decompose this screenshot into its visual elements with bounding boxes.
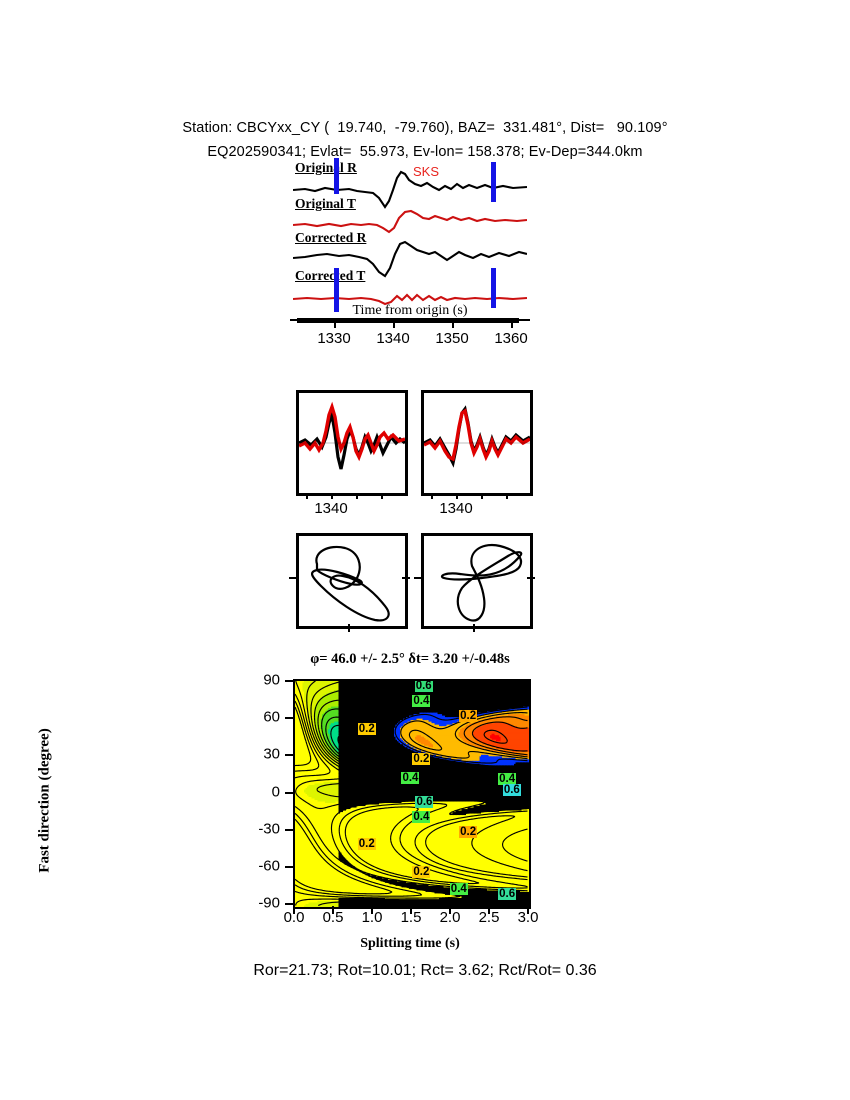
x-tick-label: 1.5	[401, 909, 422, 926]
cmp-tick	[456, 493, 458, 499]
pm-tick	[473, 624, 475, 632]
pm-tick	[527, 577, 535, 579]
particle-motion-corrected	[421, 533, 533, 629]
fast-slow-waveforms-corrected	[424, 393, 530, 493]
splitting-analysis-figure: Station: CBCYxx_CY ( 19.740, -79.760), B…	[0, 0, 850, 1100]
cmp-tick-label: 1340	[314, 500, 347, 517]
time-tick	[452, 320, 454, 328]
cmp-tick	[356, 493, 358, 499]
x-tick-label: 0.0	[284, 909, 305, 926]
event-info-line: EQ202590341; Evlat= 55.973, Ev-lon= 158.…	[0, 144, 850, 160]
time-tick-label: 1340	[376, 330, 409, 347]
contour-label: 0.4	[412, 695, 430, 707]
y-tick-label: -30	[236, 821, 280, 838]
pm-tick	[289, 577, 297, 579]
time-tick	[511, 320, 513, 328]
y-tick-label: -90	[236, 895, 280, 912]
x-axis-title: Splitting time (s)	[293, 936, 527, 952]
cmp-tick	[431, 493, 433, 499]
x-tick-label: 2.0	[440, 909, 461, 926]
pm-tick	[414, 577, 422, 579]
contour-label: 0.6	[415, 680, 433, 692]
hodogram-corrected	[424, 536, 530, 626]
contour-label: 0.4	[498, 773, 516, 785]
hodogram-uncorrected	[299, 536, 405, 626]
pm-tick	[402, 577, 410, 579]
contour-label: 0.4	[450, 883, 468, 895]
trace-label-original-t: Original T	[295, 196, 356, 212]
time-tick-label: 1360	[494, 330, 527, 347]
waveform-panel: Original R Original T Corrected R Correc…	[293, 168, 527, 318]
contour-label: 0.2	[412, 866, 430, 878]
cmp-tick	[381, 493, 383, 499]
fast-slow-waveforms-uncorrected	[299, 393, 405, 493]
time-tick-label: 1330	[317, 330, 350, 347]
pm-tick	[348, 624, 350, 632]
x-tick-label: 1.0	[362, 909, 383, 926]
cmp-tick	[481, 493, 483, 499]
y-tick	[285, 866, 293, 868]
contour-label: 0.2	[358, 838, 376, 850]
station-info-line: Station: CBCYxx_CY ( 19.740, -79.760), B…	[0, 120, 850, 136]
contour-label: 0.2	[459, 710, 477, 722]
sks-phase-label: SKS	[413, 164, 439, 179]
error-surface-plot: 0.60.40.20.20.20.40.40.60.60.40.20.20.20…	[293, 679, 531, 909]
contour-label: 0.6	[498, 888, 516, 900]
y-tick-label: 0	[236, 784, 280, 801]
contour-label: 0.6	[415, 796, 433, 808]
y-tick	[285, 829, 293, 831]
particle-motion-uncorrected	[296, 533, 408, 629]
contour-label: 0.2	[412, 753, 430, 765]
y-tick-label: 30	[236, 746, 280, 763]
time-axis-thickbar	[297, 318, 519, 323]
y-tick	[285, 903, 293, 905]
window-marker-end-top	[491, 162, 496, 202]
fast-slow-panel-corrected	[421, 390, 533, 496]
window-marker-end-bottom	[491, 268, 496, 308]
time-axis: 1330 1340 1350 1360	[290, 312, 530, 354]
contour-label: 0.6	[503, 784, 521, 796]
trace-label-corrected-r: Corrected R	[295, 230, 366, 246]
cmp-tick	[331, 493, 333, 499]
y-tick-label: 90	[236, 672, 280, 689]
x-tick-label: 3.0	[518, 909, 539, 926]
y-tick	[285, 792, 293, 794]
y-tick-label: -60	[236, 858, 280, 875]
window-marker-start-top	[334, 158, 339, 194]
contour-label: 0.2	[459, 826, 477, 838]
time-tick	[393, 320, 395, 328]
y-tick	[285, 754, 293, 756]
contour-label: 0.2	[358, 723, 376, 735]
y-axis-title: Fast direction (degree)	[37, 701, 54, 901]
trace-label-corrected-t: Corrected T	[295, 268, 365, 284]
y-tick-label: 60	[236, 709, 280, 726]
time-tick-label: 1350	[435, 330, 468, 347]
cmp-tick	[506, 493, 508, 499]
splitting-result-title: φ= 46.0 +/- 2.5° δt= 3.20 +/-0.48s	[200, 651, 620, 668]
contour-label: 0.4	[412, 811, 430, 823]
time-tick	[334, 320, 336, 328]
cmp-tick-label: 1340	[439, 500, 472, 517]
contour-label: 0.4	[401, 772, 419, 784]
trace-label-original-r: Original R	[295, 160, 357, 176]
y-tick	[285, 680, 293, 682]
fast-slow-panel-uncorrected	[296, 390, 408, 496]
y-tick	[285, 717, 293, 719]
x-tick-label: 2.5	[479, 909, 500, 926]
x-tick-label: 0.5	[323, 909, 344, 926]
quality-metrics-line: Ror=21.73; Rot=10.01; Rct= 3.62; Rct/Rot…	[0, 962, 850, 980]
cmp-tick	[306, 493, 308, 499]
